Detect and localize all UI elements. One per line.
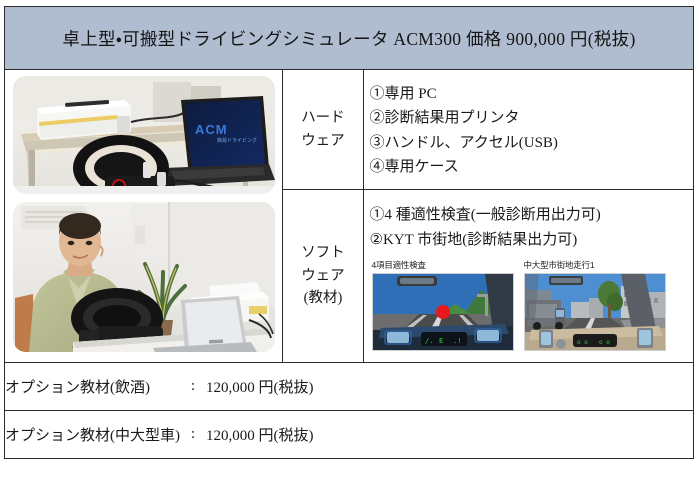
hardware-items-cell: ①専用 PC ②診断結果用プリンタ ③ハンドル、アクセル(USB) ④専用ケース xyxy=(363,70,694,190)
software-items-cell: ①4 種適性検査(一般診断用出力可) ②KYT 市街地(診断結果出力可) 4項目… xyxy=(363,190,694,363)
page-title: 卓上型・可搬型ドライビングシミュレータ ACM300 価格 900,000 円(… xyxy=(62,29,635,49)
software-label-cell: ソフト ウェア (教材) xyxy=(283,190,363,363)
option-separator: : xyxy=(180,378,206,395)
software-label: ソフト ウェア (教材) xyxy=(283,242,362,309)
svg-text:ACM: ACM xyxy=(195,122,228,137)
driving-sim-aptitude-screenshot: /.E.! xyxy=(372,273,514,351)
svg-text:/.: /. xyxy=(425,337,433,345)
list-item: ②KYT 市街地(診断結果出力可) xyxy=(370,228,688,252)
list-item: ①4 種適性検査(一般診断用出力可) xyxy=(370,203,688,227)
list-item: ②診断結果用プリンタ xyxy=(370,106,688,130)
option-price: 120,000 円(税抜) xyxy=(206,376,314,397)
svg-text:E: E xyxy=(439,337,443,345)
software-label-line1: ソフト xyxy=(283,242,362,264)
option-separator: : xyxy=(180,426,206,443)
software-label-line3: (教材) xyxy=(283,287,362,309)
software-label-line2: ウェア xyxy=(283,265,362,287)
thumbnail-aptitude: 4項目適性検査 xyxy=(372,259,512,351)
operator-using-simulator-photo xyxy=(13,202,275,352)
software-thumbnail-row: 4項目適性検査 xyxy=(370,259,688,351)
option-row-drinking: オプション教材(飲酒) : 120,000 円(税抜) xyxy=(5,363,694,411)
svg-text:.!: .! xyxy=(453,337,461,345)
hardware-item-list: ①専用 PC ②診断結果用プリンタ ③ハンドル、アクセル(USB) ④専用ケース xyxy=(370,82,688,179)
hardware-row: ACM 簡易ドライビング xyxy=(5,70,694,190)
thumbnail-city: 中大型市街地走行1 xyxy=(524,259,664,351)
hardware-label-line2: ウェア xyxy=(283,130,362,152)
option-name: オプション教材(飲酒) xyxy=(5,376,180,397)
svg-text:簡易ドライビング: 簡易ドライビング xyxy=(217,137,257,144)
svg-text:o o: o o xyxy=(577,339,588,346)
thumbnail-caption: 4項目適性検査 xyxy=(372,259,512,271)
product-photos-cell: ACM 簡易ドライビング xyxy=(5,70,283,363)
hardware-label-line1: ハード xyxy=(283,107,362,129)
svg-text:o o: o o xyxy=(599,339,610,346)
product-spec-table: 卓上型・可搬型ドライビングシミュレータ ACM300 価格 900,000 円(… xyxy=(4,6,694,459)
option-cell: オプション教材(飲酒) : 120,000 円(税抜) xyxy=(5,363,694,411)
option-name: オプション教材(中大型車) xyxy=(5,424,180,445)
spec-sheet-page: 卓上型・可搬型ドライビングシミュレータ ACM300 価格 900,000 円(… xyxy=(0,0,700,482)
option-cell: オプション教材(中大型車) : 120,000 円(税抜) xyxy=(5,411,694,459)
driving-sim-city-screenshot: o oo o xyxy=(524,273,666,351)
thumbnail-caption: 中大型市街地走行1 xyxy=(524,259,664,271)
list-item: ①専用 PC xyxy=(370,82,688,106)
hardware-label: ハード ウェア xyxy=(283,107,362,152)
photo-stack: ACM 簡易ドライビング xyxy=(5,70,282,362)
software-item-list: ①4 種適性検査(一般診断用出力可) ②KYT 市街地(診断結果出力可) xyxy=(370,203,688,252)
option-price: 120,000 円(税抜) xyxy=(206,424,314,445)
list-item: ③ハンドル、アクセル(USB) xyxy=(370,131,688,155)
option-row-large-vehicle: オプション教材(中大型車) : 120,000 円(税抜) xyxy=(5,411,694,459)
product-title-cell: 卓上型・可搬型ドライビングシミュレータ ACM300 価格 900,000 円(… xyxy=(5,7,694,70)
desktop-simulator-setup-photo: ACM 簡易ドライビング xyxy=(13,76,275,194)
table-header-row: 卓上型・可搬型ドライビングシミュレータ ACM300 価格 900,000 円(… xyxy=(5,7,694,70)
list-item: ④専用ケース xyxy=(370,155,688,179)
hardware-label-cell: ハード ウェア xyxy=(283,70,363,190)
